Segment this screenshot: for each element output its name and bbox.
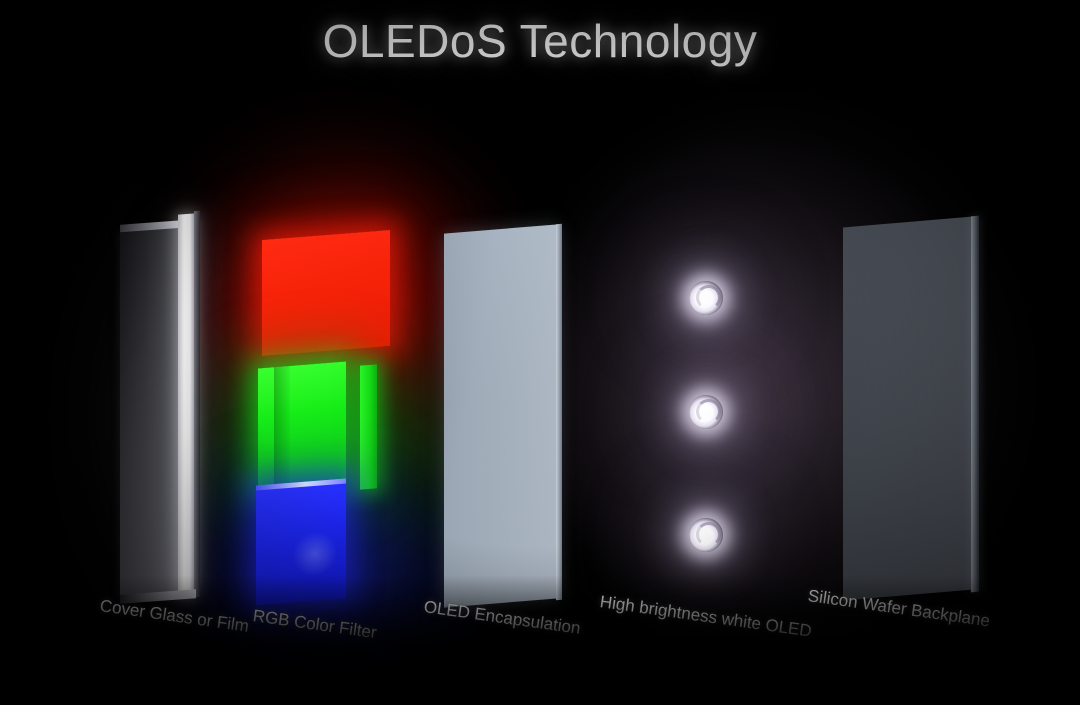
- layer-white-oled: [620, 200, 800, 620]
- blue-subpixel-block: [256, 478, 346, 605]
- encapsulation-tint: [444, 224, 558, 607]
- red-subpixel-block: [262, 230, 390, 356]
- layer-oled-encapsulation: [430, 205, 580, 615]
- layer-rgb-color-filter: [240, 205, 420, 615]
- encapsulation-right-edge: [556, 224, 562, 600]
- white-oled-emitter: [689, 281, 723, 315]
- white-oled-emitter-ring: [696, 399, 721, 424]
- green-subpixel-sheen: [274, 366, 290, 491]
- white-oled-emitter: [689, 395, 723, 429]
- cover-glass-bright-edge: [178, 213, 195, 597]
- encapsulation-face: [444, 224, 558, 607]
- slide-canvas: OLEDoS Technology: [0, 0, 1080, 705]
- green-subpixel-strip: [360, 364, 377, 489]
- white-oled-emitter-ring: [696, 285, 721, 310]
- backplane-face: [843, 217, 973, 601]
- blue-subpixel-inner-glow: [294, 531, 336, 576]
- backplane-right-edge: [971, 216, 979, 593]
- white-oled-emitter: [689, 518, 723, 552]
- cover-glass-dark-edge: [194, 211, 200, 597]
- green-subpixel-block: [258, 362, 346, 493]
- backplane-tint: [843, 217, 973, 601]
- white-oled-emitter-ring: [696, 522, 721, 547]
- layer-silicon-wafer-backplane: [828, 200, 1003, 615]
- layer-cover-glass: [112, 200, 222, 615]
- page-title: OLEDoS Technology: [0, 14, 1080, 68]
- cover-glass-face: [120, 228, 182, 601]
